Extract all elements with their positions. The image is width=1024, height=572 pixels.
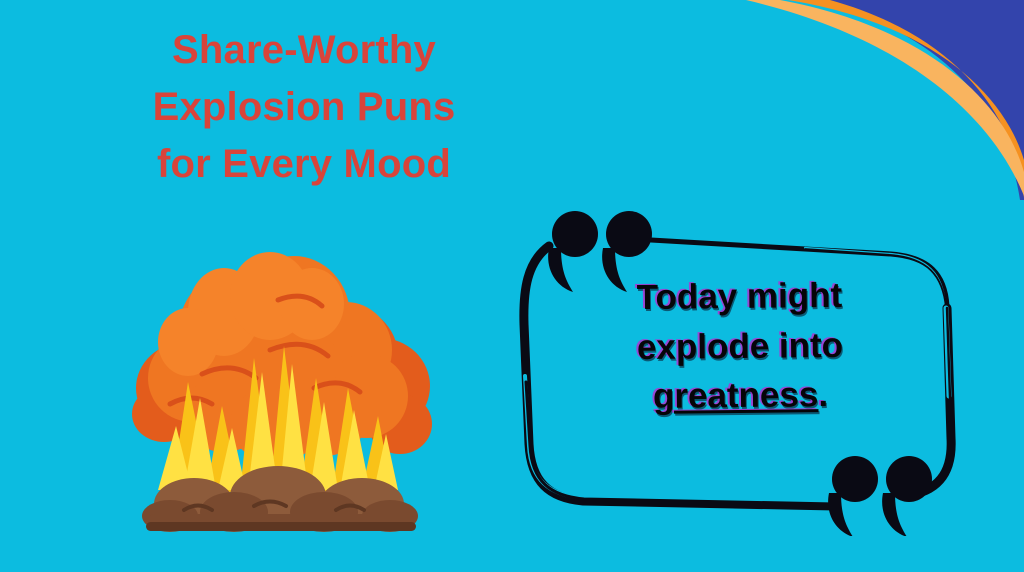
page-title-line-1: Share-Worthy xyxy=(104,22,504,79)
quote-underlined-word: greatness xyxy=(653,376,819,417)
light-orange-band-shape xyxy=(746,0,1024,196)
explosion-illustration xyxy=(128,238,434,532)
navy-band-shape xyxy=(812,0,1024,200)
quote-line-3: greatness. xyxy=(565,370,916,423)
page-title-line-2: Explosion Puns xyxy=(104,79,504,136)
quote-line-2: explode into xyxy=(565,320,916,373)
quote-period: . xyxy=(818,375,828,414)
corner-swoosh-decoration xyxy=(684,0,1024,200)
orange-band-shape xyxy=(788,0,1024,198)
quote-card: Today might explode into greatness. xyxy=(505,206,975,536)
quote-line-1: Today might xyxy=(564,270,915,323)
closing-quote-mark xyxy=(828,456,932,536)
page-title: Share-Worthy Explosion Puns for Every Mo… xyxy=(104,22,504,192)
poster-canvas: Share-Worthy Explosion Puns for Every Mo… xyxy=(0,0,1024,572)
page-title-line-3: for Every Mood xyxy=(104,136,504,193)
quote-text: Today might explode into greatness. xyxy=(564,270,916,423)
